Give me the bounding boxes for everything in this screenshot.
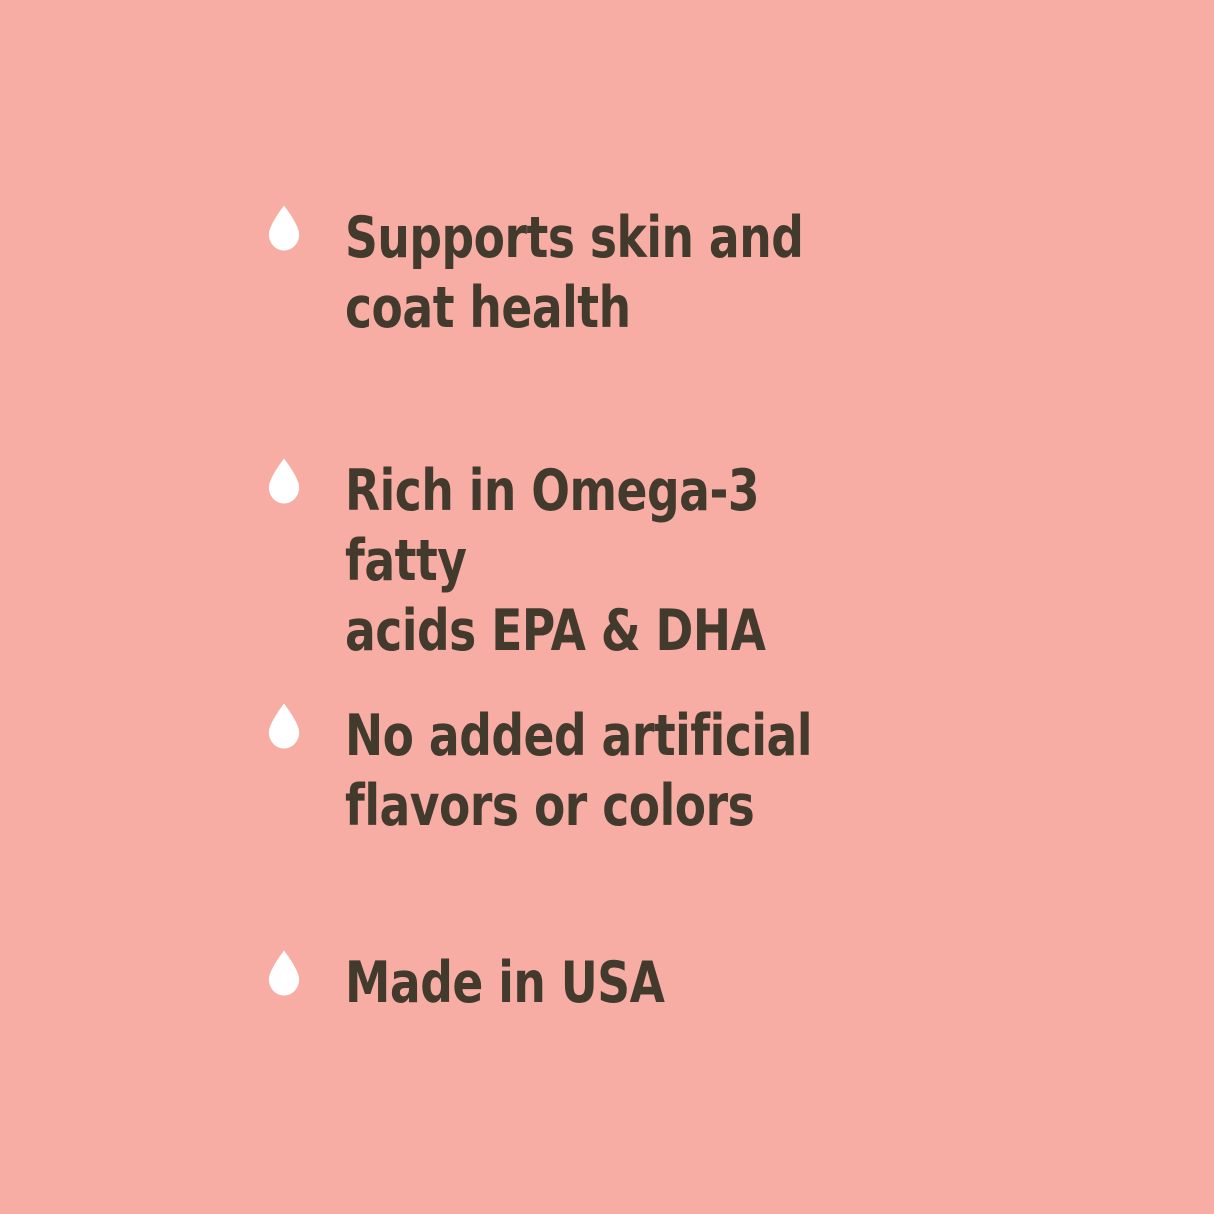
list-item-label: Supports skin and coat health [345,203,841,343]
droplet-icon [267,205,301,251]
droplet-icon [267,703,301,749]
list-item-label: Rich in Omega-3 fatty acids EPA & DHA [345,456,841,666]
list-item: Made in USA [267,948,965,1018]
list-item-label: Made in USA [345,948,841,1018]
droplet-icon [267,950,301,996]
droplet-icon [267,458,301,504]
list-item: Supports skin and coat health [267,203,965,343]
list-item: Rich in Omega-3 fatty acids EPA & DHA [267,456,965,666]
product-benefits-card: Supports skin and coat health Rich in Om… [0,0,1214,1214]
list-item-label: No added artificial flavors or colors [345,701,841,841]
benefits-list: Supports skin and coat health Rich in Om… [0,0,1214,1214]
list-item: No added artificial flavors or colors [267,701,965,841]
